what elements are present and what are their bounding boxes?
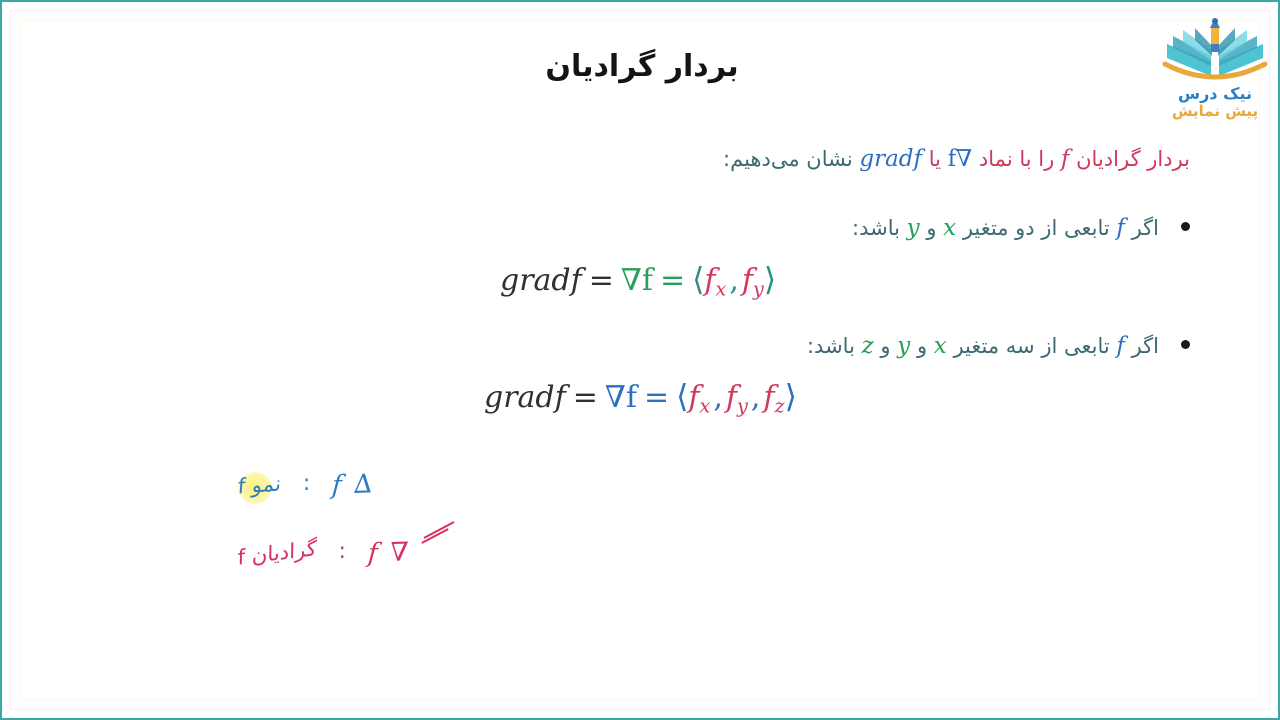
eq2-close-bracket: ⟩	[785, 379, 797, 415]
eq2-sub-2: y	[737, 394, 748, 417]
handwritten-label-nomo: نمو f	[237, 472, 282, 499]
bullet-2-var-y: y	[897, 333, 910, 359]
bullet-1-var-x: x	[943, 215, 956, 241]
handwritten-label-gradian: گرادیان f	[237, 536, 317, 569]
eq2-comma-2: ,	[748, 380, 764, 415]
eq2-term-1: f	[688, 380, 699, 415]
handwritten-stroke-1	[424, 521, 455, 539]
eq2-equals-2: =	[637, 380, 676, 415]
eq1-term-2: f	[742, 263, 753, 298]
eq1-sub-1: x	[716, 277, 727, 300]
eq1-comma-1: ,	[726, 263, 742, 298]
bullet-2-var-x: x	[934, 333, 947, 359]
bullet-1-symbol-f: f	[1116, 215, 1125, 241]
handwritten-colon-2: :	[339, 539, 346, 564]
handwritten-colon-1: :	[303, 471, 310, 496]
bullet-1-var-y: y	[907, 215, 920, 241]
bullet-2-part2: تابعی از سه متغیر	[953, 334, 1109, 358]
handwritten-symbol-delta-f: ∆ f	[331, 469, 375, 500]
eq1-equals-2: =	[653, 263, 692, 298]
bullet-2-conj1: و	[917, 334, 927, 358]
lead-part1: بردار گرادیان	[1076, 147, 1190, 171]
bullet-1-part2: تابعی از دو متغیر	[963, 216, 1110, 240]
lead-symbol-nabla-f: ∇f	[948, 146, 973, 172]
bullet-1-part3: باشد:	[852, 216, 900, 240]
eq1-sub-2: y	[753, 277, 764, 300]
eq2-open-bracket: ⟨	[676, 379, 688, 415]
content-body: بردار گرادیان f را با نماد ∇f یا gradf ن…	[42, 142, 1242, 364]
equation-three-variable-gradient: gradf=∇f=⟨fx,fy,fz⟩	[484, 382, 797, 416]
eq2-nabla-f: ∇f	[605, 380, 637, 415]
lead-symbol-f: f	[1061, 146, 1070, 172]
bullet-item-three-variables: اگر f تابعی از سه متغیر x و y و z باشد:	[42, 329, 1190, 364]
logo-text-secondary: پیش نمایش	[1157, 103, 1273, 120]
handwritten-symbol-nabla-f: ∇ f	[367, 537, 411, 568]
lead-symbol-gradf: gradf	[859, 146, 922, 172]
bullet-2-part1: اگر	[1132, 334, 1159, 358]
bullet-marker-icon	[1181, 222, 1190, 231]
eq2-lhs: gradf	[484, 380, 566, 415]
eq1-close-bracket: ⟩	[764, 262, 776, 298]
eq2-term-2: f	[726, 380, 737, 415]
eq2-equals-1: =	[566, 380, 605, 415]
handwritten-note-nabla: ∇ f : گرادیان f	[238, 538, 410, 568]
bullet-2-conj2: و	[880, 334, 890, 358]
bullet-2-symbol-f: f	[1116, 333, 1125, 359]
eq1-term-1: f	[704, 263, 715, 298]
eq2-comma-1: ,	[710, 380, 726, 415]
bullet-marker-icon	[1181, 340, 1190, 349]
bullet-1-text: اگر f تابعی از دو متغیر x و y باشد:	[852, 211, 1159, 246]
logo-text-primary: نیک درس	[1157, 86, 1273, 103]
lead-paragraph: بردار گرادیان f را با نماد ∇f یا gradf ن…	[42, 142, 1190, 177]
handwritten-note-delta: ∆ f : نمو f	[238, 470, 374, 500]
lead-part2: را با نماد	[979, 147, 1054, 171]
bullet-2-var-z: z	[862, 333, 874, 359]
bullet-1-part1: اگر	[1132, 216, 1159, 240]
slide-canvas: نیک درس پیش نمایش بردار گرادیان بردار گر…	[0, 0, 1280, 720]
eq1-open-bracket: ⟨	[692, 262, 704, 298]
eq1-lhs: gradf	[500, 263, 582, 298]
eq1-equals-1: =	[582, 263, 621, 298]
eq1-nabla-f: ∇f	[621, 263, 653, 298]
page-title: بردار گرادیان	[2, 49, 1280, 84]
eq2-sub-1: x	[700, 394, 711, 417]
bullet-2-text: اگر f تابعی از سه متغیر x و y و z باشد:	[807, 329, 1159, 364]
lead-or: یا	[929, 147, 941, 171]
lead-part3: نشان می‌دهیم:	[723, 147, 853, 171]
bullet-1-conj1: و	[926, 216, 936, 240]
bullet-2-part3: باشد:	[807, 334, 855, 358]
eq2-sub-3: z	[774, 394, 784, 417]
eq2-term-3: f	[763, 380, 774, 415]
equation-two-variable-gradient: gradf=∇f=⟨fx,fy⟩	[500, 265, 776, 299]
bullet-item-two-variables: اگر f تابعی از دو متغیر x و y باشد:	[42, 211, 1190, 246]
